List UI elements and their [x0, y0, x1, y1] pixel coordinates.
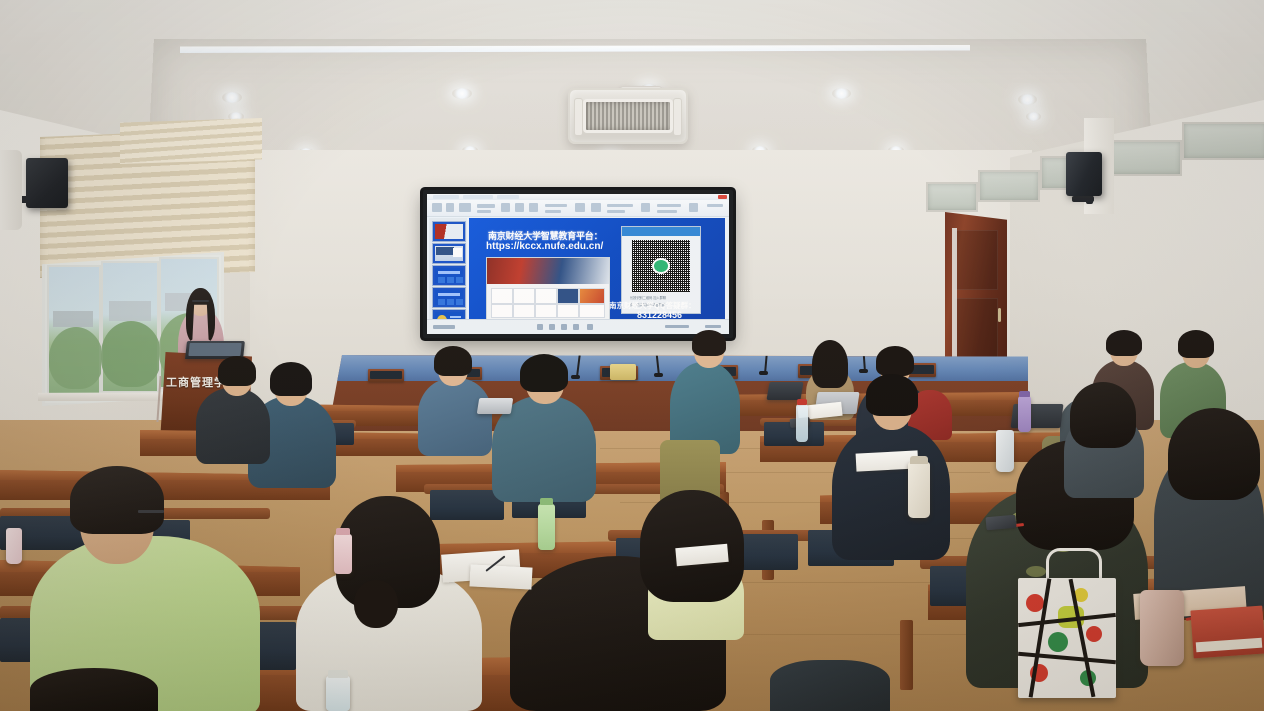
microphone-base	[859, 369, 868, 373]
water-bottle	[326, 676, 350, 711]
tote-bag[interactable]	[1018, 578, 1116, 698]
slide-thumbnail[interactable]	[432, 221, 466, 242]
qr-logo-icon	[654, 260, 668, 272]
ppt-statusbar[interactable]	[427, 319, 729, 334]
attendee-body	[418, 378, 492, 456]
thermos-lid-icon	[910, 456, 928, 464]
website-screenshot	[486, 257, 610, 321]
attendee-body	[196, 388, 270, 464]
transom-window	[1108, 140, 1182, 176]
downlight-icon	[222, 92, 242, 103]
tissue-box	[610, 364, 636, 380]
downlight-icon	[452, 88, 472, 99]
attendee-ponytail	[354, 580, 398, 628]
lecture-hall-photo: 南京财经大学智慧教育平台： https://kccx.nufe.edu.cn/	[0, 0, 1264, 711]
attendee-glasses-icon	[138, 510, 164, 513]
name-placard	[368, 369, 404, 382]
water-bottle	[796, 404, 808, 442]
attendee-hair	[70, 466, 164, 534]
laptop[interactable]	[766, 382, 803, 400]
thermos-flask	[908, 462, 930, 518]
slide-thumbnail[interactable]	[432, 287, 466, 308]
powerpoint-window[interactable]: 南京财经大学智慧教育平台： https://kccx.nufe.edu.cn/	[427, 194, 729, 334]
bottle-cap-icon	[797, 399, 807, 405]
laptop[interactable]	[477, 398, 514, 414]
transom-window	[1182, 122, 1264, 160]
wall-speaker-right	[1066, 152, 1102, 196]
ppt-thumbnail-panel[interactable]	[429, 218, 467, 320]
bottle-cap-icon	[336, 528, 350, 535]
window-blind-upper[interactable]	[120, 118, 262, 164]
transom-window	[926, 182, 978, 212]
attendee-hair	[30, 668, 158, 711]
attendee-hair	[270, 362, 312, 396]
attendee-hair	[434, 346, 472, 376]
attendee-hair	[1106, 330, 1142, 356]
attendee-hair	[1070, 382, 1136, 448]
close-icon[interactable]	[718, 195, 727, 199]
attendee-hair	[1178, 330, 1214, 358]
thermos-flask	[996, 430, 1014, 472]
attendee-body	[770, 660, 890, 711]
water-bottle	[1018, 396, 1031, 432]
slide-url: https://kccx.nufe.edu.cn/	[486, 241, 603, 252]
speaker-bracket-right	[1072, 196, 1094, 202]
slide-thumbnail[interactable]	[432, 265, 466, 286]
door-handle-icon[interactable]	[998, 308, 1001, 322]
ceiling-ac-cassette	[568, 88, 688, 144]
water-bottle	[334, 534, 352, 574]
desk-leg	[900, 620, 913, 690]
attendee-hair	[812, 340, 848, 388]
attendee-hair	[876, 346, 914, 376]
wall-ac-duct-left	[0, 150, 22, 230]
notebook-paper	[469, 564, 532, 589]
wall-speaker-left	[26, 158, 68, 208]
attendee-hair	[218, 356, 256, 386]
thermos-flask	[6, 528, 22, 564]
downlight-icon	[1026, 112, 1041, 121]
attendee-body	[832, 424, 950, 560]
microphone-base	[759, 371, 768, 375]
water-bottle	[538, 504, 555, 550]
window-pane	[47, 265, 101, 395]
downlight-icon	[832, 88, 851, 99]
attendee-hair	[692, 330, 726, 356]
attendee-hair	[1168, 408, 1260, 500]
projection-screen[interactable]: 南京财经大学智慧教育平台： https://kccx.nufe.edu.cn/	[423, 190, 733, 338]
microphone-base	[571, 375, 580, 379]
ppt-ribbon[interactable]	[427, 200, 729, 217]
window-pane	[101, 261, 159, 393]
bottle-cap-icon	[328, 670, 348, 678]
fabric-pattern	[1026, 566, 1046, 577]
microphone-base	[654, 373, 663, 377]
thermos-flask	[1140, 590, 1184, 666]
transom-window	[978, 170, 1040, 202]
bottle-cap-icon	[540, 498, 553, 505]
downlight-icon	[1018, 94, 1037, 105]
bottle-cap-icon	[1019, 391, 1030, 397]
smartphone[interactable]	[985, 515, 1016, 531]
seat-back	[430, 490, 504, 520]
slide-canvas[interactable]: 南京财经大学智慧教育平台： https://kccx.nufe.edu.cn/	[469, 218, 725, 320]
attendee-hair	[520, 354, 568, 392]
slide-thumbnail[interactable]	[432, 243, 466, 264]
presenter-glasses-icon	[192, 300, 209, 302]
attendee-hair	[866, 374, 918, 416]
